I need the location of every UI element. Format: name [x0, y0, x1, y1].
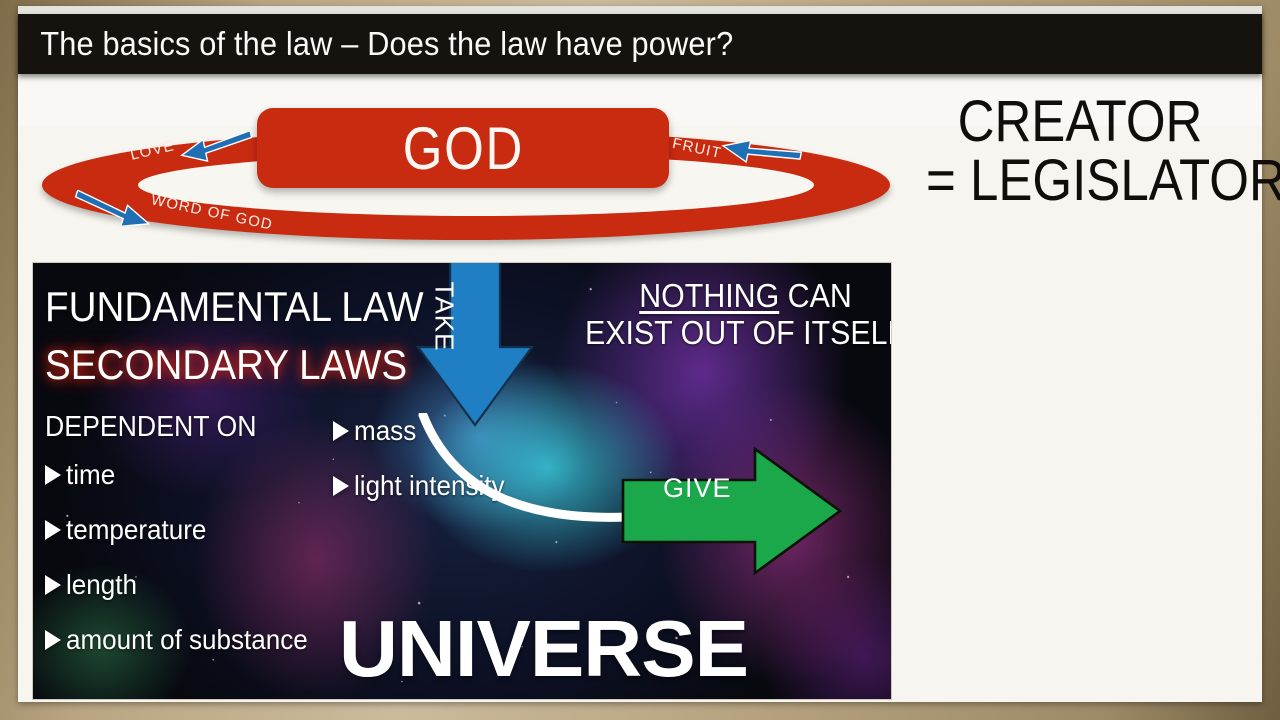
list-item: length	[45, 569, 326, 601]
triangle-bullet-icon	[45, 465, 61, 485]
list-item-label: temperature	[66, 514, 206, 546]
arrow-left-icon	[175, 132, 257, 164]
nothing-underlined: NOTHING	[639, 277, 779, 314]
triangle-bullet-icon	[45, 630, 61, 650]
triangle-bullet-icon	[45, 575, 61, 595]
list-item: temperature	[45, 514, 326, 546]
statement-line-1-rest: CAN	[779, 277, 852, 314]
dependency-list-left: time temperature length amount of substa…	[45, 459, 326, 679]
triangle-bullet-icon	[45, 520, 61, 540]
take-arrow-label: TAKE	[429, 277, 460, 357]
triangle-bullet-icon	[333, 476, 349, 496]
god-label: GOD	[402, 114, 523, 183]
universe-illustration: FUNDAMENTAL LAW SECONDARY LAWS DEPENDENT…	[32, 262, 892, 700]
page-title: The basics of the law – Does the law hav…	[18, 25, 733, 63]
secondary-laws-heading: SECONDARY LAWS	[45, 341, 407, 389]
statement-line-1: NOTHING CAN	[585, 277, 892, 314]
triangle-bullet-icon	[333, 421, 349, 441]
flow-curve-icon	[413, 413, 653, 533]
arrow-right-icon	[68, 190, 158, 226]
give-arrow-right-icon	[621, 446, 843, 576]
universe-label: UNIVERSE	[339, 603, 748, 695]
list-item: amount of substance	[45, 624, 326, 656]
legislator-line: = LEGISLATOR	[926, 151, 1234, 210]
list-item: time	[45, 459, 326, 491]
god-box: GOD	[257, 108, 669, 188]
dependent-on-label: DEPENDENT ON	[45, 411, 256, 444]
slide-title-bar: The basics of the law – Does the law hav…	[18, 14, 1262, 74]
fundamental-law-heading: FUNDAMENTAL LAW	[45, 283, 424, 331]
give-arrow-label: GIVE	[663, 473, 732, 504]
list-item-label: mass	[354, 415, 416, 447]
arrow-left-icon	[717, 132, 807, 168]
god-cycle-diagram: GOD LOVE WORD OF GOD FRUIT	[32, 100, 892, 250]
list-item-label: time	[66, 459, 115, 491]
nothing-can-exist-statement: NOTHING CAN EXIST OUT OF ITSELF	[585, 277, 892, 352]
creator-line: CREATOR	[926, 92, 1234, 151]
creator-legislator-panel: CREATOR = LEGISLATOR	[905, 92, 1255, 272]
list-item-label: length	[66, 569, 137, 601]
list-item-label: amount of substance	[66, 624, 308, 656]
statement-line-2: EXIST OUT OF ITSELF	[585, 314, 892, 351]
slide-frame: The basics of the law – Does the law hav…	[0, 0, 1280, 720]
